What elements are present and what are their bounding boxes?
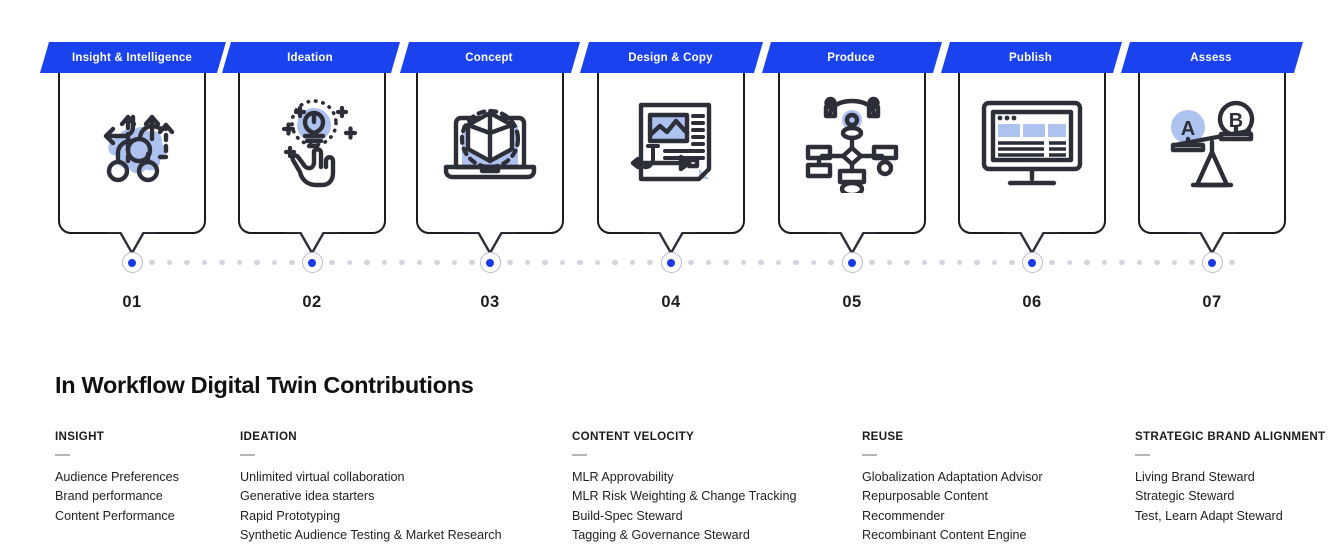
rail-pip [957,260,963,266]
column-heading: CONTENT VELOCITY [572,430,796,443]
list-item: Audience Preferences [55,468,179,488]
rail-pip [1084,260,1090,266]
rail-pip [399,260,405,266]
rail-pip [149,260,155,266]
rail-pip [364,260,370,266]
step-number-label: 07 [1182,293,1242,312]
rail-pip [1137,260,1143,266]
rail-pip [452,260,458,266]
column-divider [240,454,255,456]
rail-pip [272,260,278,266]
step-number-label: 02 [282,293,342,312]
stage-card-body [597,52,745,234]
rail-pip [612,260,618,266]
column-divider [1135,454,1150,456]
column-heading: INSIGHT [55,430,179,443]
brain-arrows-icon [60,54,204,232]
list-item: Globalization Adaptation Advisor [862,468,1043,488]
rail-pip [706,260,712,266]
list-item: Tagging & Governance Steward [572,526,796,546]
rail-pip [469,260,475,266]
step-node-06[interactable] [1022,252,1043,273]
rail-pip [1154,260,1160,266]
list-item: MLR Risk Weighting & Change Tracking [572,487,796,507]
stage-label: Design & Copy [628,52,712,64]
stage-banner-02[interactable]: Ideation [222,42,400,73]
column-divider [572,454,587,456]
rail-pip [542,260,548,266]
stage-label: Assess [1190,52,1231,64]
step-number-label: 04 [641,293,701,312]
rail-pip [887,260,893,266]
rail-pip [202,260,208,266]
step-node-07[interactable] [1202,252,1223,273]
step-node-02[interactable] [302,252,323,273]
step-node-dot [1208,259,1216,267]
contribution-column: CONTENT VELOCITYMLR ApprovabilityMLR Ris… [572,430,796,546]
column-divider [55,454,70,456]
stage-card-body [778,52,926,234]
rail-pip [647,260,653,266]
node-graph-icon [780,54,924,232]
rail-pip [723,260,729,266]
list-item: Brand performance [55,487,179,507]
rail-pip [507,260,513,266]
rail-pip [974,260,980,266]
rail-pip [741,260,747,266]
rail-pip [382,260,388,266]
list-item: Recommender [862,507,1043,527]
column-heading: STRATEGIC BRAND ALIGNMENT [1135,430,1325,443]
step-number-label: 03 [460,293,520,312]
rail-pip [329,260,335,266]
stage-card-body [416,52,564,234]
list-item: Synthetic Audience Testing & Market Rese… [240,526,502,546]
list-item: Unlimited virtual collaboration [240,468,502,488]
rail-pip [237,260,243,266]
step-node-03[interactable] [480,252,501,273]
rail-pip [595,260,601,266]
stage-label: Concept [465,52,512,64]
rail-pip [869,260,875,266]
list-item: Repurposable Content [862,487,1043,507]
stage-card-body [238,52,386,234]
rail-pip [793,260,799,266]
list-item: Test, Learn Adapt Steward [1135,507,1325,527]
rail-pip [347,260,353,266]
stage-label: Ideation [287,52,333,64]
column-heading: IDEATION [240,430,502,443]
stage-label: Produce [827,52,874,64]
rail-pip [254,260,260,266]
step-node-01[interactable] [122,252,143,273]
list-item: Build-Spec Steward [572,507,796,527]
laptop-3d-cube-icon [418,54,562,232]
rail-pip [904,260,910,266]
rail-pip [417,260,423,266]
step-node-dot [128,259,136,267]
rail-pip [1229,260,1235,266]
step-node-dot [848,259,856,267]
rail-pip [828,260,834,266]
rail-pip [577,260,583,266]
rail-pip [1049,260,1055,266]
rail-pip [630,260,636,266]
list-item: Living Brand Steward [1135,468,1325,488]
stage-label: Insight & Intelligence [72,52,192,64]
rail-pip [289,260,295,266]
svg-text:B: B [1229,110,1243,132]
step-node-dot [486,259,494,267]
stage-banner-06[interactable]: Publish [941,42,1122,73]
step-node-04[interactable] [661,252,682,273]
list-item: Generative idea starters [240,487,502,507]
ab-balance-scale-icon: A B [1140,54,1284,232]
document-pen-icon [599,54,743,232]
rail-pip [1067,260,1073,266]
stage-banner-01[interactable]: Insight & Intelligence [40,42,226,73]
rail-pip [1172,260,1178,266]
monitor-layout-icon [960,54,1104,232]
rail-pip [776,260,782,266]
step-node-dot [1028,259,1036,267]
step-number-label: 05 [822,293,882,312]
rail-pip [922,260,928,266]
rail-pip [939,260,945,266]
stage-card-body [58,52,206,234]
lightbulb-hand-icon [240,54,384,232]
rail-pip [184,260,190,266]
rail-pip [1009,260,1015,266]
column-divider [862,454,877,456]
rail-pip [1119,260,1125,266]
rail-pip [167,260,173,266]
stage-card-body [958,52,1106,234]
step-node-05[interactable] [842,252,863,273]
stage-banner-04[interactable]: Design & Copy [580,42,763,73]
step-node-dot [308,259,316,267]
stage-banner-03[interactable]: Concept [400,42,580,73]
rail-pip [1189,260,1195,266]
rail-pip [992,260,998,266]
svg-text:A: A [1181,118,1195,140]
stage-banner-07[interactable]: Assess [1121,42,1303,73]
stage-label: Publish [1009,52,1052,64]
list-item: Content Performance [55,507,179,527]
step-indicator-rail: 01020304050607 [0,252,1344,332]
list-item: Rapid Prototyping [240,507,502,527]
column-heading: REUSE [862,430,1043,443]
rail-pip [434,260,440,266]
contribution-column: INSIGHTAudience PreferencesBrand perform… [55,430,179,526]
list-item: Strategic Steward [1135,487,1325,507]
page-title: In Workflow Digital Twin Contributions [55,372,474,399]
rail-pip [560,260,566,266]
rail-pip [525,260,531,266]
contribution-column: IDEATIONUnlimited virtual collaborationG… [240,430,502,546]
contribution-column: STRATEGIC BRAND ALIGNMENTLiving Brand St… [1135,430,1325,526]
step-number-label: 06 [1002,293,1062,312]
stage-card-body: A B [1138,52,1286,234]
rail-pip [219,260,225,266]
rail-pip [811,260,817,266]
stage-banner-05[interactable]: Produce [762,42,942,73]
rail-pip [1102,260,1108,266]
step-node-dot [667,259,675,267]
list-item: Recombinant Content Engine [862,526,1043,546]
rail-pip [758,260,764,266]
step-number-label: 01 [102,293,162,312]
contribution-column: REUSEGlobalization Adaptation AdvisorRep… [862,430,1043,546]
rail-pip [688,260,694,266]
list-item: MLR Approvability [572,468,796,488]
